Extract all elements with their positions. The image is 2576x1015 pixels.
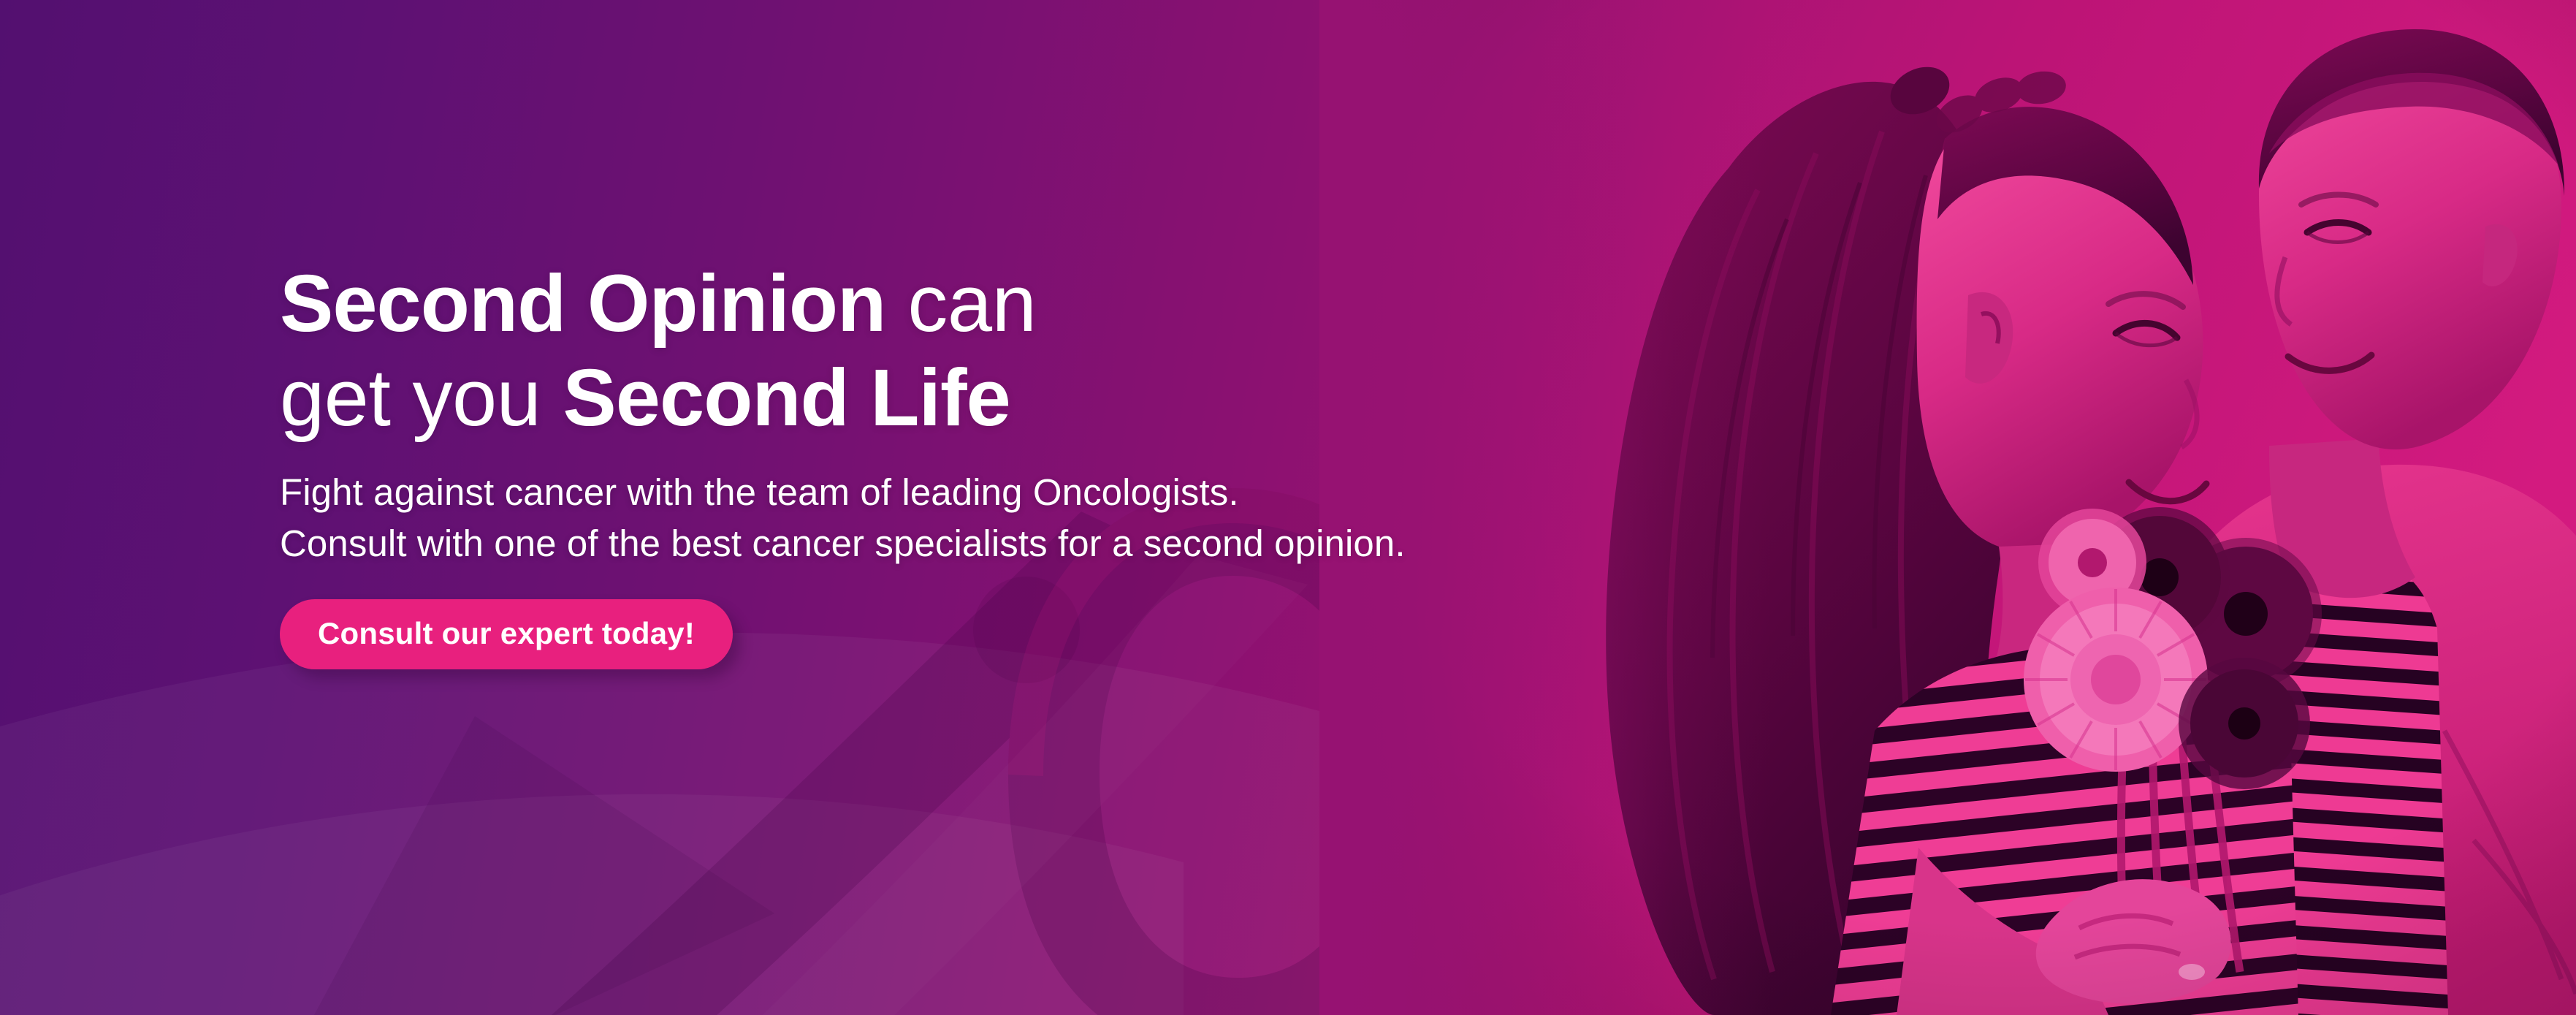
headline-light-1: can (885, 259, 1036, 349)
swoosh-arc-upper (0, 632, 1388, 1015)
headline-light-2: get you (280, 353, 563, 443)
headline-line-1: Second Opinion can (280, 257, 1741, 351)
wedge-shade (314, 716, 774, 1015)
headline-bold-1: Second Opinion (280, 259, 885, 349)
headline-bold-2: Second Life (563, 353, 1010, 443)
hero-banner: Second Opinion can get you Second Life F… (0, 0, 2576, 1015)
subcopy-line-2: Consult with one of the best cancer spec… (280, 518, 1741, 569)
hero-content: Second Opinion can get you Second Life F… (280, 257, 1741, 669)
consult-expert-button[interactable]: Consult our expert today! (280, 599, 733, 669)
headline-line-2: get you Second Life (280, 351, 1741, 446)
swoosh-arc-lower (0, 794, 1184, 1015)
page-title: Second Opinion can get you Second Life (280, 257, 1741, 445)
hero-subcopy: Fight against cancer with the team of le… (280, 467, 1741, 569)
subcopy-line-1: Fight against cancer with the team of le… (280, 467, 1741, 517)
